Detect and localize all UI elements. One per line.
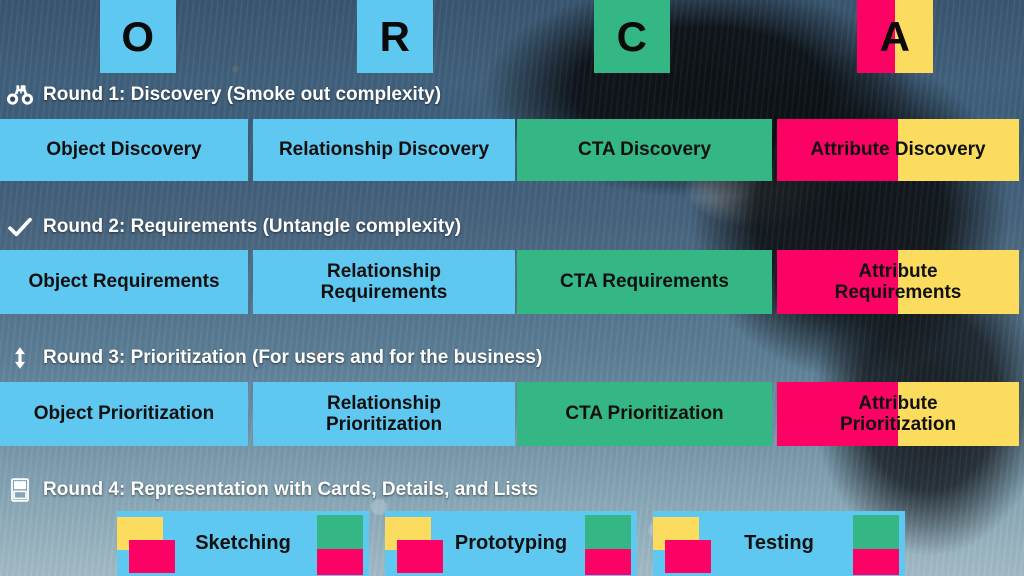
swatch-pink [317, 549, 363, 575]
method-card-left-swatches [385, 513, 443, 575]
bar-label: Attribute Prioritization [834, 393, 962, 436]
round-2-heading: Round 2: Requirements (Untangle complexi… [6, 214, 461, 240]
orca-letter-tile-a: A [857, 0, 933, 73]
method-card-right-swatches [847, 513, 905, 575]
method-card-left-swatches [117, 513, 175, 575]
orca-letter-tile-r: R [357, 0, 433, 73]
swatch-pink [585, 549, 631, 575]
orca-letter-tile-o: O [100, 0, 176, 73]
round-1-heading: Round 1: Discovery (Smoke out complexity… [6, 82, 441, 108]
method-card-sketching[interactable]: Sketching [117, 511, 369, 576]
method-card-left-swatches [653, 513, 711, 575]
bar-label: Attribute Requirements [829, 261, 968, 304]
orca-letter-glyph: O [121, 16, 154, 58]
orca-letter-glyph: C [617, 16, 648, 58]
method-card-prototyping[interactable]: Prototyping [385, 511, 637, 576]
orca-letter-glyph: R [380, 16, 411, 58]
method-card-label: Prototyping [443, 532, 579, 555]
bar-label: Attribute Discovery [804, 139, 991, 160]
round-2-bar-2[interactable]: CTA Requirements [517, 250, 772, 314]
bar-label: Relationship Requirements [315, 261, 454, 304]
method-card-testing[interactable]: Testing [653, 511, 905, 576]
round-2-bar-row: Object RequirementsRelationship Requirem… [0, 250, 1024, 314]
bar-label: CTA Requirements [554, 271, 735, 292]
bar-label: Object Discovery [40, 139, 207, 160]
binoculars-icon [6, 83, 34, 107]
round-4-heading-text: Round 4: Representation with Cards, Deta… [43, 479, 538, 501]
card-layout-icon [6, 478, 34, 502]
round-3-bar-2[interactable]: CTA Prioritization [517, 382, 772, 446]
method-card-right-swatches [311, 513, 369, 575]
round-3-heading: Round 3: Prioritization (For users and f… [6, 345, 542, 371]
swatch-pink [665, 540, 711, 573]
bar-label: CTA Prioritization [559, 403, 729, 424]
round-2-bar-0[interactable]: Object Requirements [0, 250, 248, 314]
round-1-bar-1[interactable]: Relationship Discovery [253, 119, 515, 181]
up-down-arrow-icon [6, 346, 34, 370]
orca-letter-tile-c: C [594, 0, 670, 73]
round-2-heading-text: Round 2: Requirements (Untangle complexi… [43, 216, 461, 238]
slide-content-layer: ORCA Round 1: Discovery (Smoke out compl… [0, 0, 1024, 576]
round-4-heading: Round 4: Representation with Cards, Deta… [6, 477, 538, 503]
round-2-bar-3[interactable]: Attribute Requirements [777, 250, 1019, 314]
round-1-bar-2[interactable]: CTA Discovery [517, 119, 772, 181]
bar-label: Object Requirements [22, 271, 225, 292]
orca-letter-glyph: A [880, 16, 911, 58]
method-card-label: Testing [711, 532, 847, 555]
bar-label: Relationship Discovery [273, 139, 495, 160]
check-icon [6, 215, 34, 239]
swatch-pink [129, 540, 175, 573]
method-card-label: Sketching [175, 532, 311, 555]
swatch-green [853, 515, 899, 549]
bar-label: Relationship Prioritization [320, 393, 448, 436]
bar-label: CTA Discovery [572, 139, 717, 160]
round-3-heading-text: Round 3: Prioritization (For users and f… [43, 347, 542, 369]
round-1-bar-row: Object DiscoveryRelationship DiscoveryCT… [0, 119, 1024, 181]
round-3-bar-row: Object PrioritizationRelationship Priori… [0, 382, 1024, 446]
round-1-bar-0[interactable]: Object Discovery [0, 119, 248, 181]
round-1-heading-text: Round 1: Discovery (Smoke out complexity… [43, 84, 441, 106]
round-1-bar-3[interactable]: Attribute Discovery [777, 119, 1019, 181]
round-3-bar-1[interactable]: Relationship Prioritization [253, 382, 515, 446]
bar-label: Object Prioritization [28, 403, 221, 424]
round-3-bar-3[interactable]: Attribute Prioritization [777, 382, 1019, 446]
round-2-bar-1[interactable]: Relationship Requirements [253, 250, 515, 314]
swatch-green [585, 515, 631, 549]
swatch-green [317, 515, 363, 549]
round-3-bar-0[interactable]: Object Prioritization [0, 382, 248, 446]
swatch-pink [397, 540, 443, 573]
method-card-right-swatches [579, 513, 637, 575]
swatch-pink [853, 549, 899, 575]
